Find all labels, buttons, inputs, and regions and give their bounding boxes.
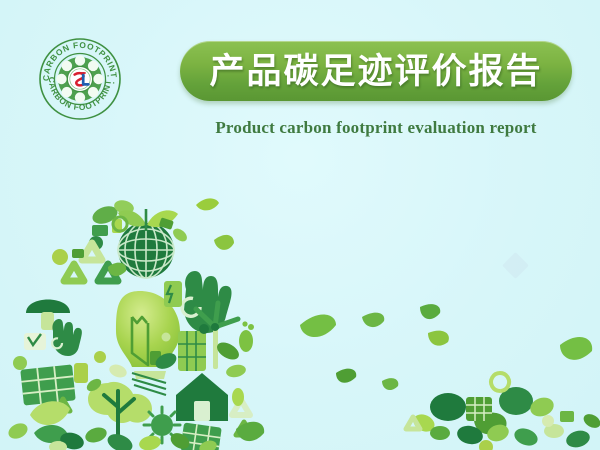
- leaf-icon: [107, 362, 128, 379]
- footprint-icon: [232, 388, 244, 406]
- leaf-icon: [420, 304, 440, 319]
- leaf-icon: [214, 235, 234, 250]
- house-icon: [176, 373, 228, 421]
- hand-spiral-icon: [52, 319, 82, 356]
- solar-panel-icon: [178, 331, 206, 371]
- water-drop-icon: [94, 351, 106, 363]
- leaf-icon: [300, 314, 336, 337]
- leaf-icon: [196, 198, 219, 210]
- cover-slide: CARBON FOOTPRINT · CARBON FOOTPRINT ·: [0, 0, 600, 450]
- carbon-footprint-seal-logo: CARBON FOOTPRINT · CARBON FOOTPRINT ·: [38, 37, 122, 121]
- title-banner: 产品碳足迹评价报告: [180, 41, 572, 101]
- page-title: 产品碳足迹评价报告: [209, 54, 542, 89]
- leaf-icon: [336, 369, 356, 383]
- recycling-icon: [64, 243, 118, 281]
- leaf-icon: [382, 378, 398, 390]
- leaf-icon: [560, 337, 592, 360]
- page-subtitle: Product carbon footprint evaluation repo…: [180, 118, 572, 138]
- mushroom-icon: [26, 300, 70, 331]
- slide-header: CARBON FOOTPRINT · CARBON FOOTPRINT ·: [0, 0, 600, 160]
- leaf-icon: [225, 363, 247, 379]
- solar-panel-icon: [20, 364, 75, 405]
- footprint-icon: [239, 321, 254, 352]
- leaf-icon: [214, 339, 242, 363]
- eco-icon-cluster-right: [406, 373, 600, 450]
- eco-icon-collage-footprint: [0, 185, 600, 450]
- leaf-icon: [428, 331, 449, 346]
- leaf-icon: [362, 313, 384, 327]
